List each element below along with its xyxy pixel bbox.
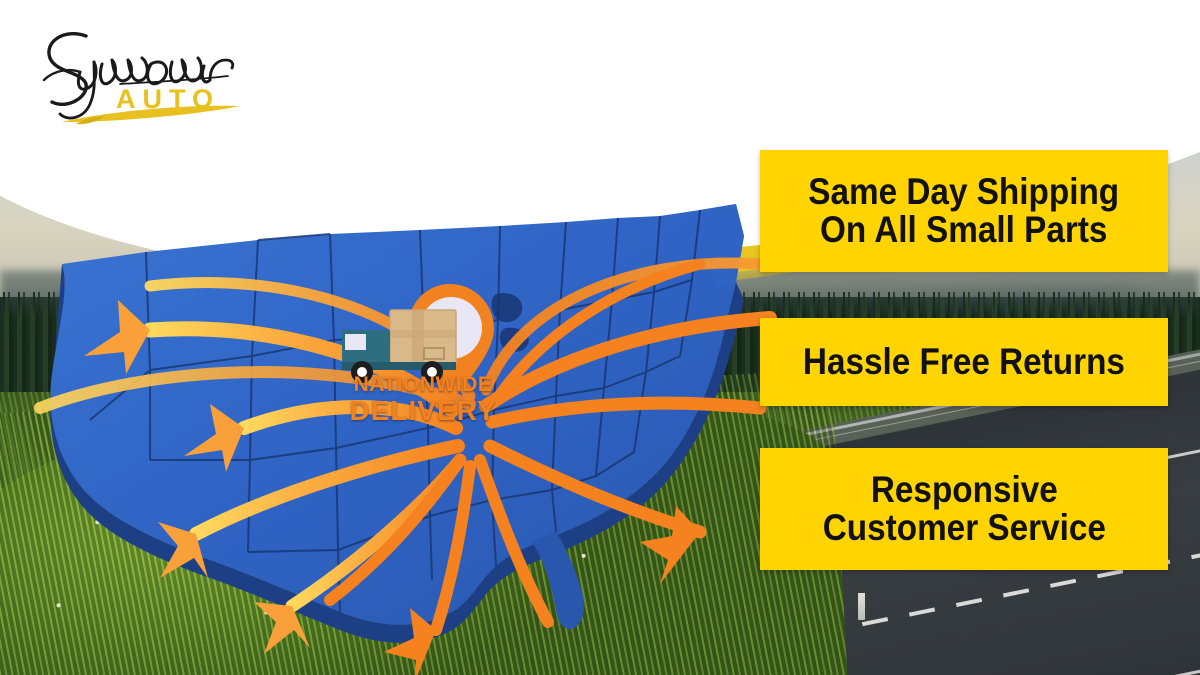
callout-same-day-shipping[interactable]: Same Day Shipping On All Small Parts bbox=[760, 150, 1168, 272]
callout-3-line-1: Responsive bbox=[822, 471, 1105, 509]
nationwide-delivery-badge: NATIONWIDE DELIVERY bbox=[328, 278, 518, 448]
badge-line-2: DELIVERY bbox=[328, 396, 518, 425]
callout-1-line-2: On All Small Parts bbox=[809, 211, 1120, 249]
callout-responsive-customer-service[interactable]: Responsive Customer Service bbox=[760, 448, 1168, 570]
callout-1-line-1: Same Day Shipping bbox=[809, 173, 1120, 211]
logo-sub-text: AUTO bbox=[116, 84, 220, 114]
roadside-marker-post bbox=[858, 586, 865, 620]
badge-line-1: NATIONWIDE bbox=[328, 374, 518, 396]
brand-logo[interactable]: AUTO bbox=[24, 18, 274, 128]
promo-banner: AUTO bbox=[0, 0, 1200, 675]
callout-2-line-1: Hassle Free Returns bbox=[803, 343, 1125, 381]
callout-hassle-free-returns[interactable]: Hassle Free Returns bbox=[760, 318, 1168, 406]
callout-3-line-2: Customer Service bbox=[822, 509, 1105, 547]
badge-text: NATIONWIDE DELIVERY bbox=[328, 374, 518, 425]
